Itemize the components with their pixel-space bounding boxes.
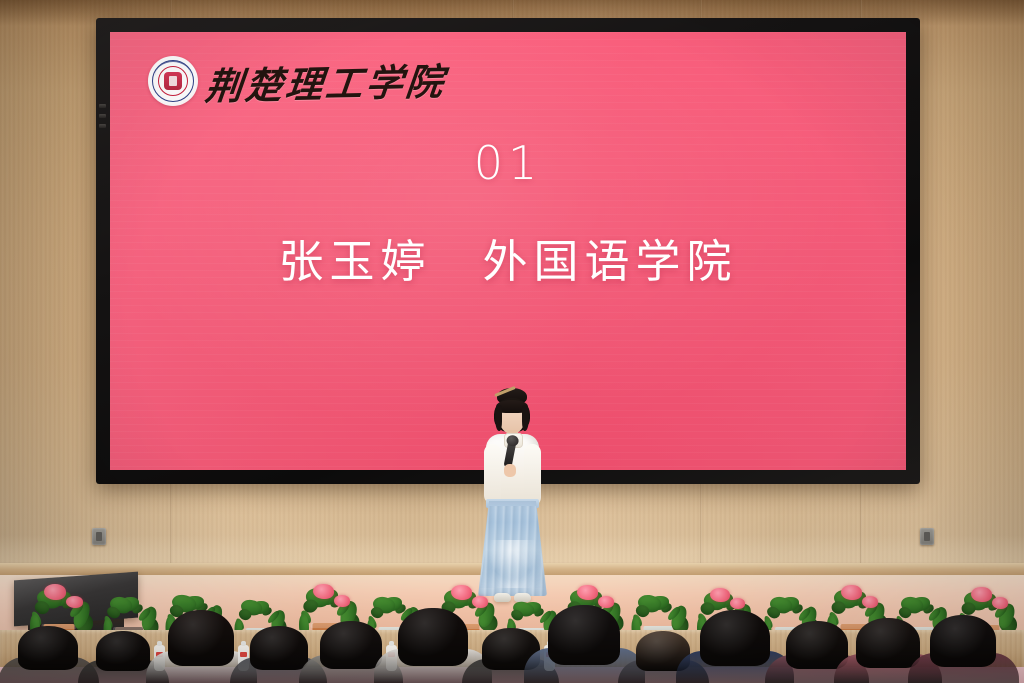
- audience-head: [96, 631, 150, 671]
- presenter-hand: [504, 464, 516, 477]
- plant-flower: [730, 598, 745, 609]
- plant-flower: [334, 595, 350, 607]
- plant-flower: [992, 597, 1008, 609]
- audience-head: [168, 610, 234, 666]
- wall-outlet-left: [92, 528, 106, 545]
- plant-flower: [862, 596, 878, 608]
- plant-flower: [710, 588, 730, 602]
- audience-head: [786, 621, 848, 669]
- auditorium-photo: 荆楚理工学院 01 张玉婷 外国语学院: [0, 0, 1024, 683]
- wall-outlet-right: [920, 528, 934, 545]
- bezel-mount-clip: [99, 114, 106, 118]
- university-brand-lockup: 荆楚理工学院: [148, 54, 446, 108]
- plant-flower: [971, 587, 992, 602]
- audience-head: [18, 626, 78, 670]
- bezel-mount-clip: [99, 104, 106, 108]
- audience-head: [856, 618, 920, 668]
- plant-flower: [66, 596, 83, 608]
- seal-core-glyph: [164, 72, 182, 90]
- audience-head: [250, 626, 308, 670]
- presenter-hair-left: [495, 405, 502, 431]
- university-name: 荆楚理工学院: [203, 51, 449, 110]
- audience-head: [398, 608, 468, 666]
- plant-flower: [598, 596, 614, 608]
- audience-head: [700, 610, 770, 666]
- slide-title: 张玉婷 外国语学院: [110, 225, 906, 290]
- audience-head: [930, 615, 996, 667]
- presenter-left-sleeve: [484, 444, 501, 504]
- presenter-hair-right: [522, 405, 529, 431]
- plant-flower: [472, 596, 488, 608]
- audience-head: [320, 621, 382, 669]
- plant-flower: [313, 584, 334, 599]
- plant-flower: [577, 585, 598, 600]
- audience-row: [0, 612, 1024, 683]
- university-seal-icon: [148, 56, 198, 106]
- presenter-right-sleeve: [524, 444, 541, 506]
- slide-number: 01: [110, 136, 906, 190]
- bezel-mount-clip: [99, 124, 106, 128]
- plant-flower: [841, 585, 862, 600]
- plant-flower: [451, 585, 472, 600]
- audience-head: [548, 605, 620, 665]
- plant-flower: [44, 584, 66, 600]
- presenter: [464, 388, 560, 610]
